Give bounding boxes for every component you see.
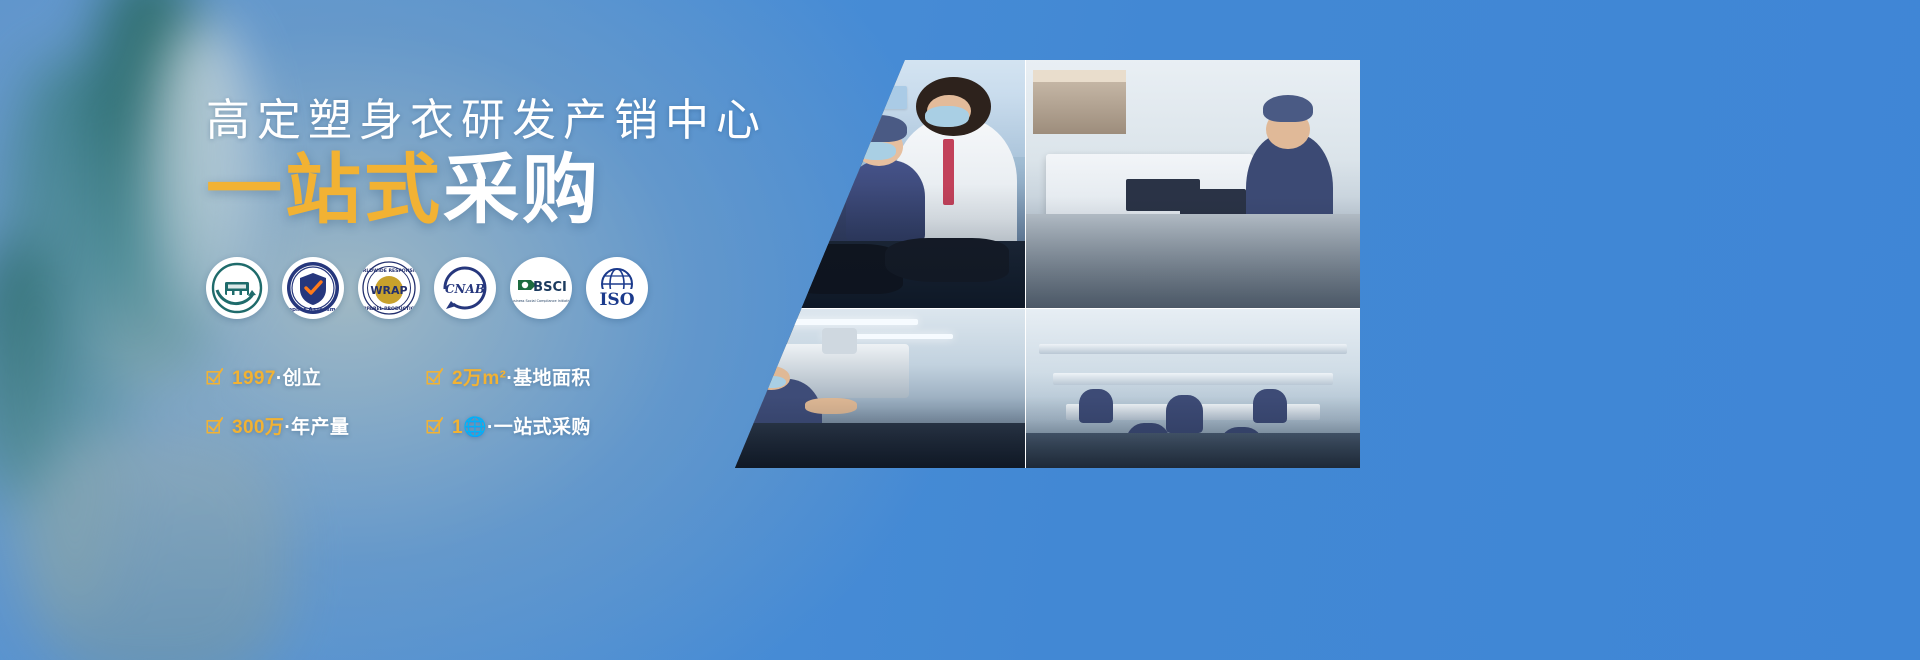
supplier-assessment-icon: Supplier Assessment	[284, 259, 342, 317]
stat-number: 300万	[232, 417, 284, 438]
promo-banner: 高定塑身衣研发产销中心 一站式采购	[0, 0, 1920, 660]
checkbox-icon	[206, 368, 223, 385]
banner-subheadline: 一站式采购	[206, 151, 906, 231]
globe-icon: 🌐	[463, 417, 487, 438]
iso-icon: ISO	[588, 259, 646, 317]
bsci-icon: BSCI Business Social Compliance Initiati…	[512, 259, 570, 317]
cnab-certification-badge[interactable]: CNAB	[434, 257, 496, 319]
stat-label: 2万m²·基地面积	[452, 363, 591, 390]
page-title: 高定塑身衣研发产销中心	[206, 96, 906, 145]
wrap-icon: WRAP WORLDWIDE RESPONSIBLE APPAREL PRODU…	[360, 259, 418, 317]
stat-label: 1🌐·一站式采购	[452, 412, 591, 439]
stats-grid: 1997·创立 2万m²·基地面积 300万·年产量	[206, 363, 626, 439]
certification-badge-row: Supplier Assessment WRAP WORLDWIDE RESPO…	[206, 257, 906, 319]
stat-label: 300万·年产量	[232, 412, 349, 439]
stat-sep: ·	[487, 417, 494, 438]
garment-cutting-table-photo	[1026, 60, 1360, 308]
checkbox-icon	[426, 368, 443, 385]
svg-text:WRAP: WRAP	[370, 284, 407, 297]
stat-item: 300万·年产量	[206, 412, 396, 439]
wrap-certification-badge[interactable]: WRAP WORLDWIDE RESPONSIBLE APPAREL PRODU…	[358, 257, 420, 319]
checkbox-icon	[426, 417, 443, 434]
stat-item: 2万m²·基地面积	[426, 363, 626, 390]
svg-text:ISO: ISO	[599, 290, 634, 310]
sgs-certification-badge[interactable]	[206, 257, 268, 319]
svg-text:WORLDWIDE RESPONSIBLE: WORLDWIDE RESPONSIBLE	[360, 268, 418, 274]
stat-label: 1997·创立	[232, 363, 321, 390]
svg-text:CNAB: CNAB	[445, 282, 485, 296]
subheadline-highlight: 一站式	[206, 148, 443, 233]
stat-text: 一站式采购	[494, 417, 591, 438]
checkbox-icon	[206, 417, 223, 434]
banner-content: 高定塑身衣研发产销中心 一站式采购	[206, 96, 906, 439]
stat-unit: m²	[482, 368, 506, 389]
stat-item: 1997·创立	[206, 363, 396, 390]
stat-text: 年产量	[291, 417, 349, 438]
stat-number: 1997	[232, 368, 276, 389]
iso-certification-badge[interactable]: ISO	[586, 257, 648, 319]
stat-sep: ·	[276, 368, 283, 389]
supplier-assessment-badge[interactable]: Supplier Assessment	[282, 257, 344, 319]
svg-text:APPAREL PRODUCTION: APPAREL PRODUCTION	[360, 306, 418, 312]
sgs-icon	[209, 260, 265, 316]
workshop-wide-view-photo	[1026, 309, 1360, 468]
stat-text: 基地面积	[513, 368, 591, 389]
stat-number: 2万	[452, 368, 482, 389]
svg-text:Supplier Assessment: Supplier Assessment	[284, 307, 342, 313]
stat-number: 1	[452, 417, 463, 438]
svg-text:BSCI: BSCI	[533, 280, 567, 295]
subheadline-rest: 采购	[443, 148, 601, 233]
stat-text: 创立	[283, 368, 322, 389]
svg-text:Business Social Compliance Ini: Business Social Compliance Initiative	[512, 299, 570, 303]
cnab-icon: CNAB	[436, 259, 494, 317]
bsci-certification-badge[interactable]: BSCI Business Social Compliance Initiati…	[510, 257, 572, 319]
stat-item: 1🌐·一站式采购	[426, 412, 626, 439]
